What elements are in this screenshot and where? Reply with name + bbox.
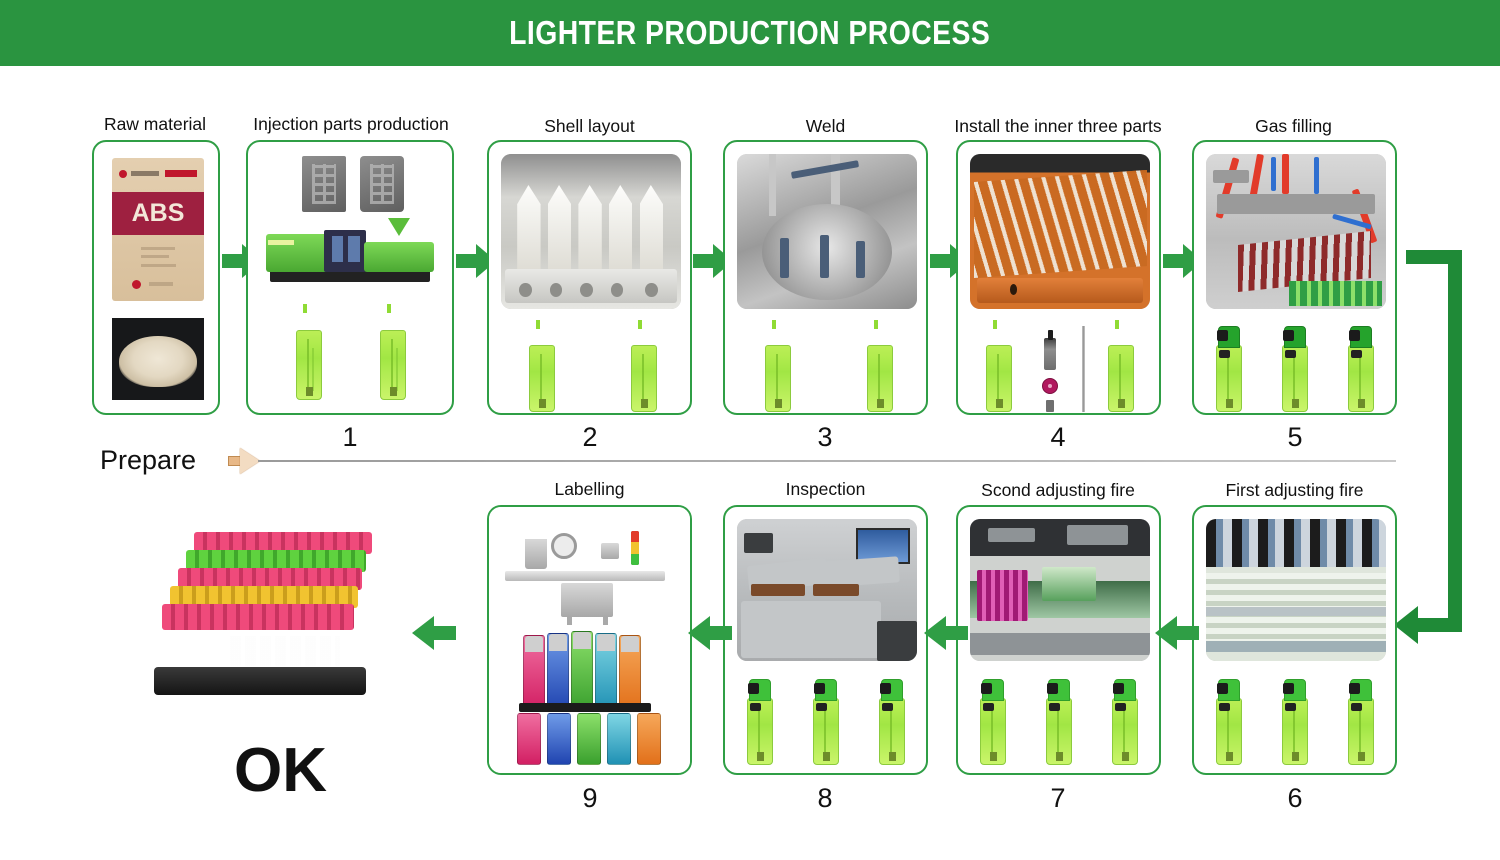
injection-machine-hopper [388,218,410,236]
card-first-adjusting-fire[interactable] [1192,505,1397,775]
mold-grid [312,164,337,204]
lighter-icon [1112,679,1138,765]
lighter-icon [813,679,839,765]
abs-brand-dot [119,170,127,178]
lighter-icon [765,326,791,412]
inspection-arm [819,556,900,587]
arrow-head [924,616,946,650]
lighter-cap [549,634,567,651]
arrow-head [412,616,434,650]
caption-inspection: Inspection [728,479,923,500]
parts-tray-photo [970,154,1150,309]
caption-labelling: Labelling [492,479,687,500]
inspection-head [744,533,773,553]
lighter-wheel [1049,703,1060,711]
connector-vertical-segment [1448,250,1462,632]
colored-lighter-lying [577,713,601,765]
labeller-controller [601,543,619,559]
fire-nozzle-row [1206,519,1386,567]
lighter-nozzle [993,320,997,329]
weld-gripper [780,238,789,278]
lighter-icon [1216,679,1242,765]
lighter-label [889,752,896,761]
prepare-arrow-marker [228,448,262,474]
weld-gripper [820,235,829,278]
lighter-icon [1046,679,1072,765]
caption-injection-parts-production: Injection parts production [238,114,464,135]
photo-content [501,154,681,309]
arrow-shaft [944,626,968,640]
arrow-inspection-to-labelling [688,616,732,650]
gas-bracket [1213,170,1249,184]
abs-footer-text [149,282,173,286]
arrow-shaft [222,254,244,268]
arrow-shaft [1163,254,1185,268]
inspection-machine-photo [737,519,917,661]
lighter-label [1226,752,1233,761]
shell-tray-photo [501,154,681,309]
needle-part-icon [1082,326,1085,412]
lighter-label [1056,752,1063,761]
tower-yellow [631,542,639,553]
lighter-metal-hood [1217,683,1228,694]
card-inspection[interactable] [723,505,928,775]
lighter-icon [296,310,322,400]
lighter-icon [1216,326,1242,412]
marker-head [240,448,260,474]
lighter-icon [867,326,893,412]
fire-rail [1206,641,1386,652]
lighter-metal-hood [981,683,992,694]
colored-lighter-lying [637,713,661,765]
colored-lighter-standing [571,631,593,711]
card-labelling[interactable] [487,505,692,775]
abs-brand-text-1 [131,171,159,176]
caption-second-adjusting-fire: Scond adjusting fire [958,480,1158,501]
card-install-inner-three-parts[interactable] [956,140,1161,415]
abs-spec-line-2 [141,255,169,258]
weld-gripper [856,241,865,278]
photo-content [970,154,1150,309]
lighter-wheel [816,703,827,711]
shell-cone [609,185,632,272]
step-number-1: 1 [300,422,400,453]
screw-part-icon [1046,400,1054,412]
card-raw-material[interactable]: ABS [92,140,220,415]
lighter-inner-rod-2 [312,348,314,391]
caption-gas-filling: Gas filling [1196,116,1391,137]
arrow-shaft [708,626,732,640]
weld-post [769,154,776,216]
pellet-pile [119,336,196,387]
lighter-nozzle [772,320,776,329]
gas-tube-blue [1271,157,1276,191]
lighter-cap [597,634,615,651]
inspection-plate [751,584,805,595]
shell-cone [640,185,663,272]
arrow-head [1155,616,1177,650]
fire-base [970,633,1150,656]
fire-adjust-machine-photo [1206,519,1386,661]
step-number-3: 3 [775,422,875,453]
lighter-icon [980,679,1006,765]
arrow-shaft [1175,626,1199,640]
injection-machine-window-1 [332,236,343,262]
caption-install-inner-three-parts: Install the inner three parts [938,116,1178,137]
colored-lighter-standing [547,633,569,711]
photo-content [1206,154,1386,309]
lighter-label [539,399,546,408]
labeller-leg [567,617,572,625]
lighter-cap [525,636,543,652]
lighter-wheel [1115,703,1126,711]
colored-lighter-lying [607,713,631,765]
mold-icon-1 [302,156,346,212]
fire-rail [1206,607,1386,616]
lighter-icon [1108,326,1134,412]
lighter-label [1122,752,1129,761]
arrow-shaft [693,254,715,268]
lighter-icon [986,326,1012,412]
lighter-wheel [1285,350,1296,358]
arrow-shaft [456,254,478,268]
injection-machine-sticker [268,240,294,245]
connector-bottom-segment [1418,618,1462,632]
lighter-label [996,399,1003,408]
lighter-rack-magenta [977,570,1027,621]
abs-bag-topbar [119,168,196,181]
photo-content [970,519,1150,661]
lighter-metal-hood [1217,330,1228,341]
fire-tool [1067,525,1128,545]
caption-shell-layout: Shell layout [492,116,687,137]
lighter-cap [621,636,639,652]
lighter-stand-bar [519,703,651,712]
lighter-nozzle [638,320,642,329]
lighter-nozzle [536,320,540,329]
lighter-nozzle [1115,320,1119,329]
lighter-metal-hood [1283,330,1294,341]
shell-cone [517,185,540,272]
lighter-metal-hood [1349,683,1360,694]
gas-lighter-row [1289,281,1383,306]
lighter-nozzle [874,320,878,329]
arrow-second-fire-to-inspection [924,616,968,650]
arrow-labelling-to-final [412,616,456,650]
lighter-icon [1348,326,1374,412]
finished-product-tray [150,528,390,703]
mold-icon-2 [360,156,404,212]
lighter-metal-hood [1349,330,1360,341]
step-number-6: 6 [1245,783,1345,814]
lighter-metal-hood [1047,683,1058,694]
photo-content [1206,519,1386,661]
gas-filling-machine-photo [1206,154,1386,309]
arrow-first-fire-to-second-fire [1155,616,1199,650]
label-feeder [525,539,547,569]
page-title: LIGHTER PRODUCTION PROCESS [509,14,990,52]
abs-footer-dot [132,280,141,289]
step-number-4: 4 [1008,422,1108,453]
colored-lighter-standing [523,635,545,711]
connector-arrow-head [1394,606,1418,644]
inspection-base [741,601,881,658]
colored-lighter-standing [595,633,617,711]
welding-machine-photo [737,154,917,309]
colored-lighter-standing [619,635,641,711]
mold-grid [370,164,395,204]
valve-part-icon [1044,338,1056,370]
lighter-wheel [1219,350,1230,358]
card-injection-parts-production[interactable] [246,140,454,415]
gas-tube-red [1282,154,1289,194]
step-number-5: 5 [1245,422,1345,453]
abs-brand-text-2 [165,170,197,177]
lighter-cap [573,632,591,649]
status-light-tower-icon [631,531,639,565]
tray-lighter-labels [230,636,340,666]
lighter-wheel [983,703,994,711]
parts-bar-hole [1010,284,1017,295]
lighter-icon [631,326,657,412]
weld-arm [791,161,860,180]
lighter-wheel [1351,703,1362,711]
lighter-metal-hood [1283,683,1294,694]
lighter-metal-hood [880,683,891,694]
lighter-label [1118,399,1125,408]
lighter-icon [1282,679,1308,765]
card-shell-layout[interactable] [487,140,692,415]
tray-hole [645,283,658,297]
abs-spec-line-3 [141,264,176,267]
lighter-label [1292,752,1299,761]
arrow-shaft [930,254,952,268]
lighter-label [306,387,313,396]
colored-lighter-lying [517,713,541,765]
shell-cone [578,185,601,272]
injection-machine-window-2 [348,236,360,262]
tower-red [631,531,639,542]
lighter-icon [1348,679,1374,765]
lighter-label [990,752,997,761]
lighter-label [775,399,782,408]
gas-tube-blue [1314,157,1319,194]
lighter-label [757,752,764,761]
labeller-leg [603,617,608,625]
lighter-label [390,387,397,396]
abs-bag-icon: ABS [112,158,204,301]
lighter-wheel [750,703,761,711]
tray-hole [580,283,593,297]
lighter-metal-hood [1113,683,1124,694]
card-gas-filling[interactable] [1192,140,1397,415]
page-header: LIGHTER PRODUCTION PROCESS [0,0,1500,66]
step-number-8: 8 [775,783,875,814]
inspection-tray [877,621,917,661]
second-fire-machine-photo [970,519,1150,661]
wheel-part-icon [1042,378,1058,394]
abs-spec-line-1 [141,247,174,250]
arrow-head [688,616,710,650]
lighter-label [1358,752,1365,761]
step-number-9: 9 [540,783,640,814]
tray-hole [550,283,563,297]
labeller-cabinet [561,583,613,617]
lighter-label [1358,399,1365,408]
fire-green-panel [1042,567,1096,601]
lighter-label [1292,399,1299,408]
label-reel [551,533,577,559]
valve-stem [1048,330,1053,340]
lighter-label [1226,399,1233,408]
lighter-wheel [1219,703,1230,711]
lighter-wheel [882,703,893,711]
caption-first-adjusting-fire: First adjusting fire [1192,480,1397,501]
lighter-metal-hood [748,683,759,694]
gas-manifold [1217,194,1375,214]
lighter-inner-rod-2 [396,348,398,391]
lighter-icon [879,679,905,765]
caption-raw-material: Raw material [85,114,225,135]
tray-hole [611,283,624,297]
parts-bar [977,278,1143,303]
lighter-icon [529,326,555,412]
lighter-icon [1282,326,1308,412]
card-weld[interactable] [723,140,928,415]
tray-base [154,667,366,695]
lighter-label [823,752,830,761]
tower-green [631,554,639,565]
lighter-icon [747,679,773,765]
lighter-label [641,399,648,408]
shell-cone [548,185,571,272]
prepare-label: Prepare [100,445,196,476]
lighter-nozzle [387,304,391,313]
lighter-icon [380,310,406,400]
lighter-metal-hood [814,683,825,694]
colored-lighter-lying [547,713,571,765]
injection-machine-barrel [364,242,434,272]
lighter-wheel [1285,703,1296,711]
tray-hole [519,283,532,297]
caption-weld: Weld [728,116,923,137]
plastic-pellets-icon [112,318,204,400]
step-number-7: 7 [1008,783,1108,814]
tray-lighter-row [162,604,354,630]
photo-content [737,154,917,309]
parts-rack [974,170,1147,278]
photo-content [737,519,917,661]
card-second-adjusting-fire[interactable] [956,505,1161,775]
lighter-wheel [1351,350,1362,358]
timeline-divider [258,460,1396,462]
labeller-conveyor [505,571,665,581]
fire-tool [988,528,1035,542]
ok-label: OK [234,735,327,806]
step-number-2: 2 [540,422,640,453]
inspection-plate [813,584,860,595]
lighter-nozzle [303,304,307,313]
lighter-label [877,399,884,408]
weld-post [831,154,840,207]
abs-bag-text: ABS [112,199,204,228]
arrow-shaft [432,626,456,640]
